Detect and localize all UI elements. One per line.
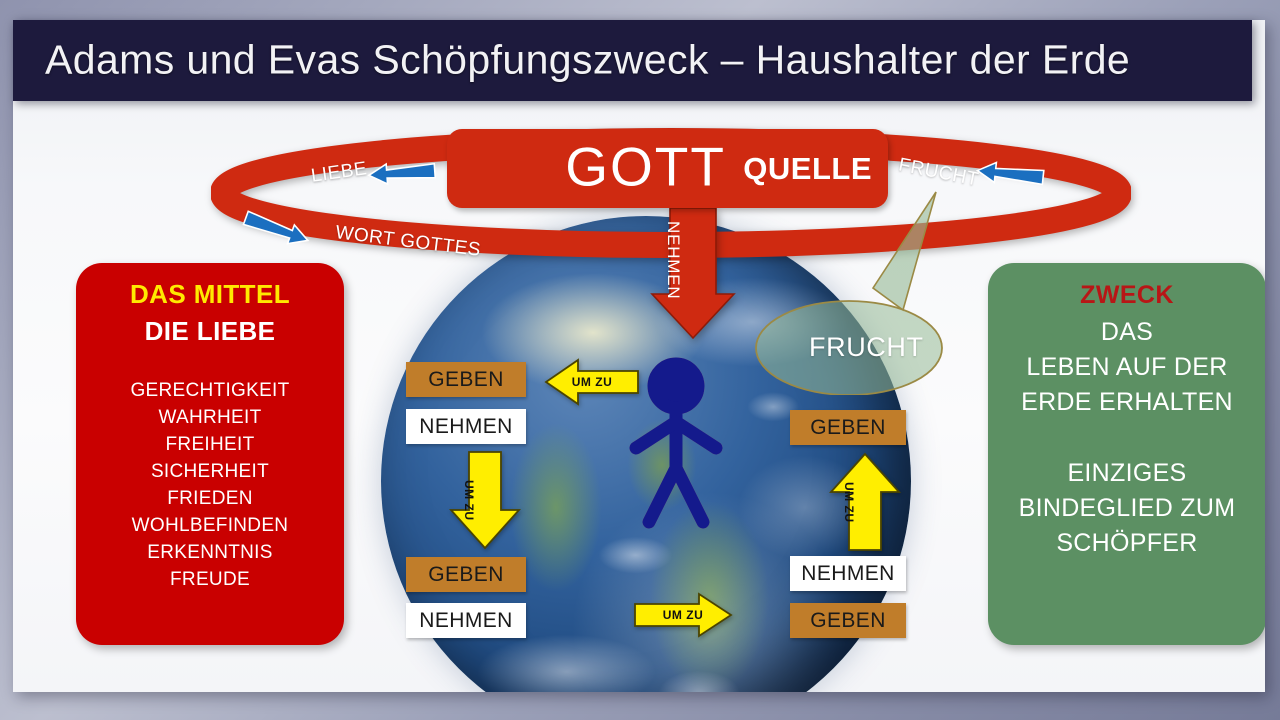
list-item: SCHÖPFER xyxy=(1019,529,1236,558)
human-stick-figure-icon xyxy=(627,356,725,537)
box-left-geben-2: GEBEN xyxy=(406,557,526,592)
list-item: ERDE ERHALTEN xyxy=(1021,388,1233,417)
list-item: FREIHEIT xyxy=(130,434,289,456)
panel-left-list: GERECHTIGKEIT WAHRHEIT FREIHEIT SICHERHE… xyxy=(130,380,289,591)
blue-arrow-left-frucht-icon xyxy=(974,157,1047,195)
nehmen-arrow-label: NEHMEN xyxy=(650,208,696,313)
um-zu-down-label: UM ZU xyxy=(449,450,489,550)
page-title: Adams und Evas Schöpfungszweck – Haushal… xyxy=(45,36,1130,83)
box-left-geben-1: GEBEN xyxy=(406,362,526,397)
list-item: EINZIGES xyxy=(1019,459,1236,488)
ring-label-frucht: FRUCHT xyxy=(897,154,981,191)
ring-label-wort-gottes: WORT GOTTES xyxy=(334,222,482,262)
box-left-nehmen-1: NEHMEN xyxy=(406,409,526,444)
um-zu-left-label: UM ZU xyxy=(544,358,640,406)
panel-das-mittel: DAS MITTEL DIE LIEBE GERECHTIGKEIT WAHRH… xyxy=(76,263,344,645)
ring-label-liebe: LIEBE xyxy=(310,158,369,188)
box-left-nehmen-2: NEHMEN xyxy=(406,603,526,638)
slide-title-bar: Adams und Evas Schöpfungszweck – Haushal… xyxy=(13,20,1252,101)
slide-canvas: LIEBE WORT GOTTES FRUCHT GOTT QUELLE FRU… xyxy=(13,20,1265,692)
panel-left-heading: DAS MITTEL xyxy=(130,279,290,310)
box-right-nehmen-1: NEHMEN xyxy=(790,556,906,591)
list-item: SICHERHEIT xyxy=(130,461,289,483)
list-item: WAHRHEIT xyxy=(130,407,289,429)
frucht-speech-bubble xyxy=(753,190,958,400)
list-item: BINDEGLIED ZUM xyxy=(1019,494,1236,523)
panel-right-heading: ZWECK xyxy=(1080,281,1174,310)
blue-arrow-right-wort-gottes-icon xyxy=(238,205,314,258)
box-right-geben-1: GEBEN xyxy=(790,410,906,445)
panel-left-subheading: DIE LIEBE xyxy=(145,316,276,347)
gott-quelle-box: GOTT QUELLE xyxy=(447,129,888,208)
um-zu-right-label: UM ZU xyxy=(633,592,733,637)
list-item: FREUDE xyxy=(130,569,289,591)
list-item: ERKENNTNIS xyxy=(130,542,289,564)
list-item: GERECHTIGKEIT xyxy=(130,380,289,402)
list-item: LEBEN AUF DER xyxy=(1021,353,1233,382)
panel-zweck: ZWECK DAS LEBEN AUF DER ERDE ERHALTEN EI… xyxy=(988,263,1265,645)
list-item: FRIEDEN xyxy=(130,488,289,510)
um-zu-up-label: UM ZU xyxy=(829,452,869,552)
bubble-frucht-label: FRUCHT xyxy=(809,332,924,363)
list-item: DAS xyxy=(1021,318,1233,347)
panel-right-lines-bottom: EINZIGES BINDEGLIED ZUM SCHÖPFER xyxy=(1019,459,1236,558)
box-right-geben-2: GEBEN xyxy=(790,603,906,638)
blue-arrow-left-liebe-icon xyxy=(366,158,438,194)
panel-right-lines-top: DAS LEBEN AUF DER ERDE ERHALTEN xyxy=(1021,318,1233,417)
gott-label: GOTT xyxy=(565,134,726,198)
list-item: WOHLBEFINDEN xyxy=(130,515,289,537)
quelle-label: QUELLE xyxy=(743,151,872,187)
